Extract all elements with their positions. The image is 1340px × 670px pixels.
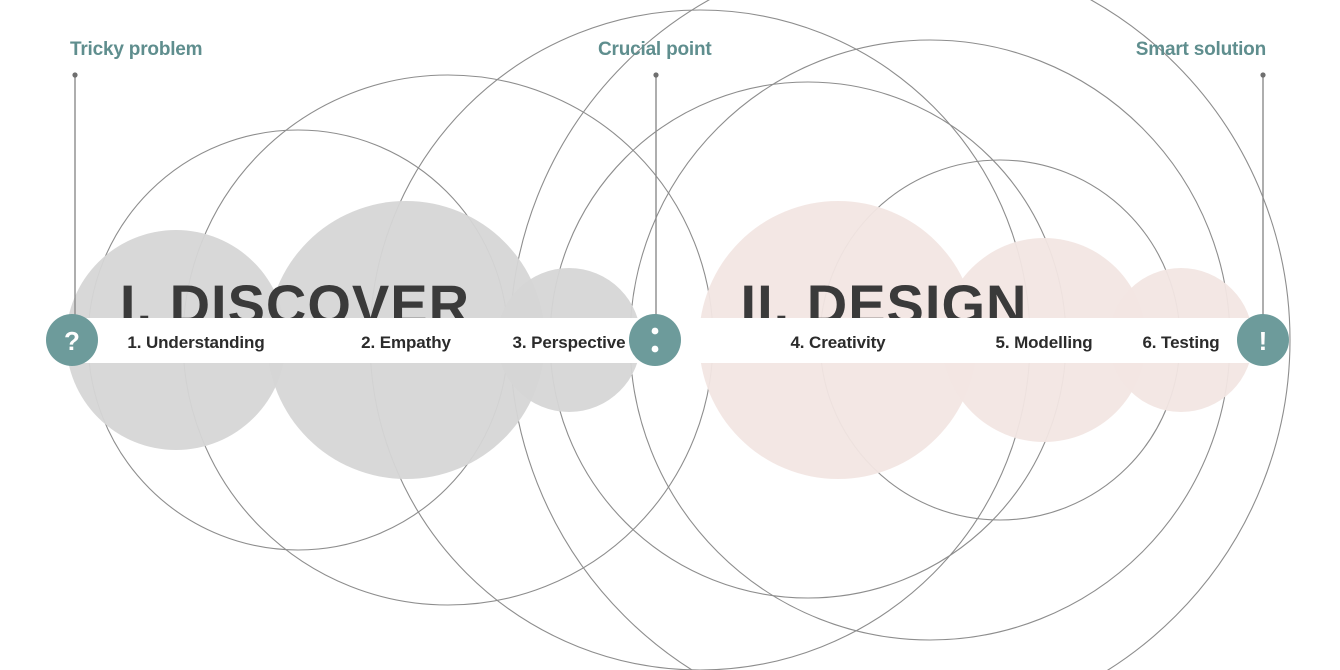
step-label-empathy[interactable]: 2. Empathy: [361, 333, 451, 352]
colon-icon-dot-top: [652, 328, 659, 335]
callout-label-tricky-problem: Tricky problem: [70, 39, 202, 60]
diagram-canvas: I. DISCOVER II. DESIGN 1. Understanding …: [0, 0, 1340, 670]
step-label-creativity[interactable]: 4. Creativity: [790, 333, 886, 352]
badge-question[interactable]: ?: [46, 314, 98, 366]
leader-crucial-point: [653, 72, 658, 318]
leader-dot-crucial-point: [653, 72, 658, 77]
question-mark-icon: ?: [64, 326, 80, 356]
leader-dot-smart-solution: [1260, 72, 1265, 77]
callout-label-smart-solution: Smart solution: [1136, 39, 1266, 60]
leader-dot-tricky-problem: [72, 72, 77, 77]
step-label-modelling[interactable]: 5. Modelling: [995, 333, 1092, 352]
colon-badge-circle[interactable]: [629, 314, 681, 366]
step-label-understanding[interactable]: 1. Understanding: [127, 333, 264, 352]
badge-pivot[interactable]: [629, 314, 681, 366]
leader-tricky-problem: [72, 72, 77, 318]
step-label-perspective[interactable]: 3. Perspective: [513, 333, 626, 352]
leader-smart-solution: [1260, 72, 1265, 318]
colon-icon-dot-bottom: [652, 346, 659, 353]
design-thinking-diagram: I. DISCOVER II. DESIGN 1. Understanding …: [0, 0, 1340, 670]
step-label-testing[interactable]: 6. Testing: [1142, 333, 1219, 352]
callout-label-crucial-point: Crucial point: [598, 39, 712, 60]
exclamation-mark-icon: !: [1259, 326, 1268, 356]
badge-solution[interactable]: !: [1237, 314, 1289, 366]
